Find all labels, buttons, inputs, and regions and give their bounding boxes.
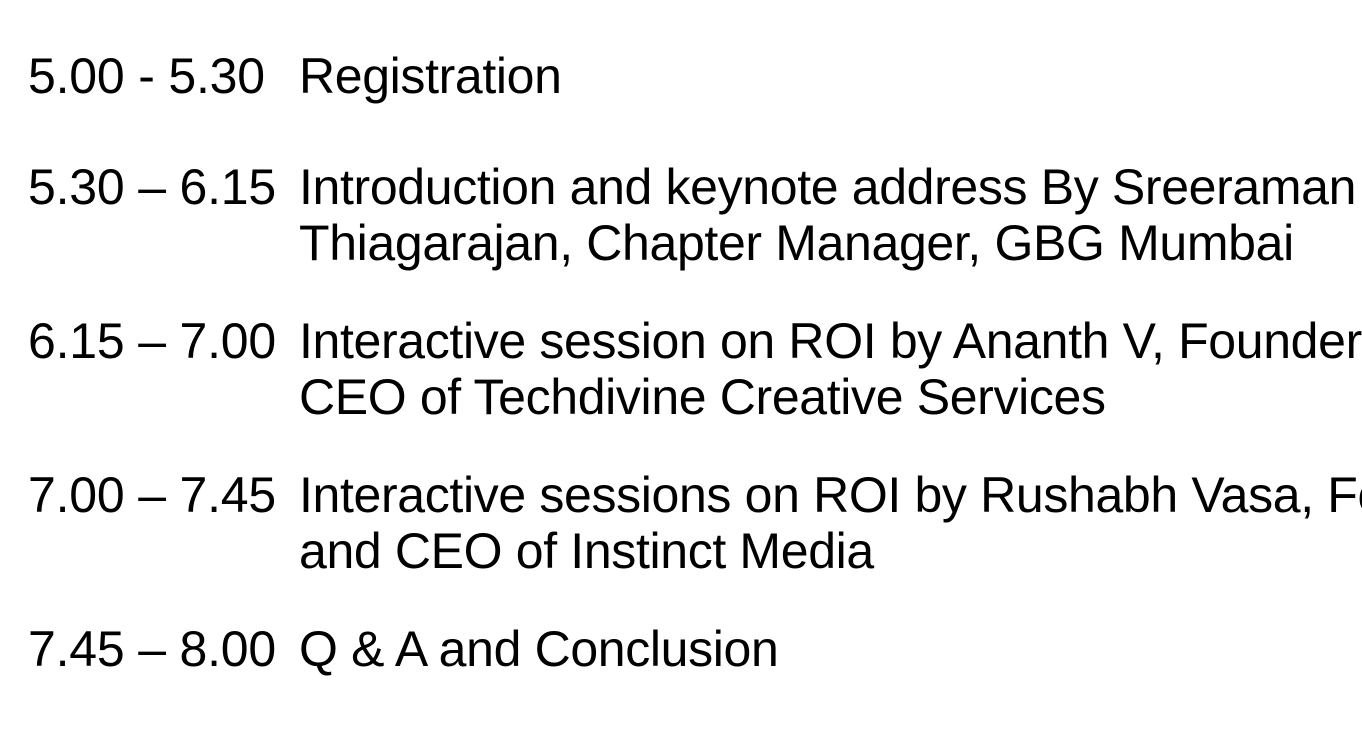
agenda-time: 7.00 – 7.45 [0,467,299,523]
agenda-time: 6.15 – 7.00 [0,313,299,369]
agenda-description-line: Introduction and keynote address By Sree… [299,159,1356,215]
agenda-row: 7.00 – 7.45Interactive sessions on ROI b… [0,467,1362,579]
agenda-description-line: Registration [299,48,1340,104]
agenda-time: 5.30 – 6.15 [0,159,299,215]
agenda-description: Q & A and Conclusion [299,621,1362,677]
agenda-time: 7.45 – 8.00 [0,621,299,677]
agenda-description-line: Thiagarajan, Chapter Manager, GBG Mumbai [299,215,1356,271]
agenda-description-line: Q & A and Conclusion [299,621,1340,677]
agenda-slide: 5.00 - 5.30Registration5.30 – 6.15Introd… [0,0,1362,742]
agenda-description-line: and CEO of Instinct Media [299,523,1362,579]
agenda-row: 5.30 – 6.15Introduction and keynote addr… [0,159,1362,271]
agenda-row: 6.15 – 7.00Interactive session on ROI by… [0,313,1362,425]
agenda-description: Introduction and keynote address By Sree… [299,159,1362,271]
agenda-time: 5.00 - 5.30 [0,48,299,104]
agenda-description: Registration [299,48,1362,104]
agenda-description: Interactive sessions on ROI by Rushabh V… [299,467,1362,579]
agenda-description: Interactive session on ROI by Ananth V, … [299,313,1362,425]
agenda-description-line: Interactive session on ROI by Ananth V, … [299,313,1362,369]
agenda-description-line: Interactive sessions on ROI by Rushabh V… [299,467,1362,523]
agenda-description-line: CEO of Techdivine Creative Services [299,369,1362,425]
agenda-row: 7.45 – 8.00Q & A and Conclusion [0,621,1362,677]
agenda-row: 5.00 - 5.30Registration [0,48,1362,104]
